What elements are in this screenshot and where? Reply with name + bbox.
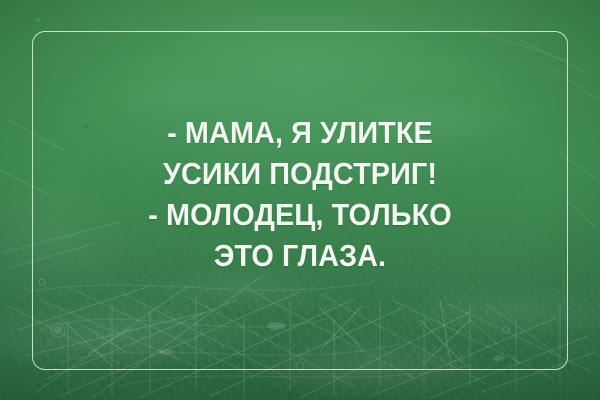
quote-text-block: - МАМА, Я УЛИТКЕ УСИКИ ПОДСТРИГ! - МОЛОД… [21, 112, 579, 276]
quote-line-4: ЭТО ГЛАЗА. [21, 235, 579, 276]
quote-line-3: - МОЛОДЕЦ, ТОЛЬКО [21, 194, 579, 235]
chalkboard-quote-card: - МАМА, Я УЛИТКЕ УСИКИ ПОДСТРИГ! - МОЛОД… [0, 0, 600, 400]
quote-line-2: УСИКИ ПОДСТРИГ! [21, 153, 579, 194]
quote-line-1: - МАМА, Я УЛИТКЕ [21, 112, 579, 153]
